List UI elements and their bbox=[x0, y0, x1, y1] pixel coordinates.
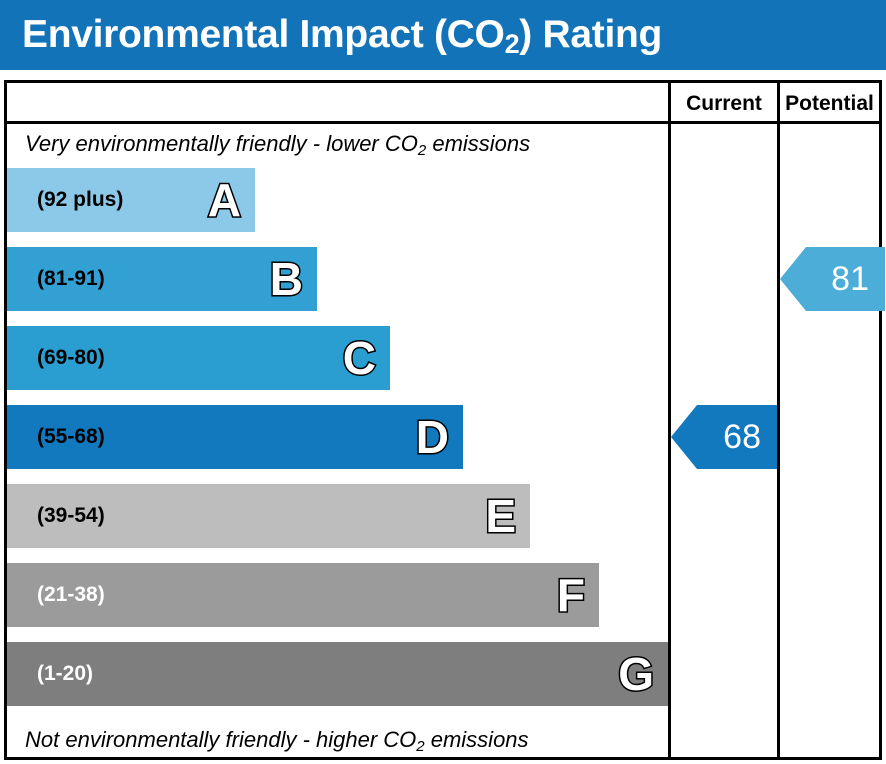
current-rating-marker: 68 bbox=[671, 405, 777, 469]
band-g-letter: G bbox=[618, 651, 654, 697]
band-e-letter: E bbox=[485, 493, 516, 539]
band-d-letter: D bbox=[416, 414, 449, 460]
rating-bands: Very environmentally friendly - lower CO… bbox=[7, 124, 668, 760]
caption-bottom: Not environmentally friendly - higher CO… bbox=[25, 722, 655, 758]
band-b: (81-91) B bbox=[7, 247, 317, 311]
title-main: Environmental Impact (CO bbox=[22, 13, 505, 56]
band-f: (21-38) F bbox=[7, 563, 599, 627]
band-a-range: (92 plus) bbox=[37, 188, 123, 212]
band-d-range: (55-68) bbox=[37, 425, 105, 449]
page-title: Environmental Impact (CO2) Rating bbox=[22, 13, 662, 57]
column-header-potential: Potential bbox=[780, 83, 879, 124]
caption-bottom-prefix: Not environmentally friendly - higher CO bbox=[25, 727, 416, 752]
band-b-range: (81-91) bbox=[37, 267, 105, 291]
potential-rating-marker: 81 bbox=[780, 247, 885, 311]
band-c-letter: C bbox=[343, 335, 376, 381]
band-e-range: (39-54) bbox=[37, 504, 105, 528]
band-f-range: (21-38) bbox=[37, 583, 105, 607]
body-divider-2 bbox=[777, 124, 780, 760]
current-rating-value: 68 bbox=[723, 418, 777, 457]
band-g-range: (1-20) bbox=[37, 662, 93, 686]
potential-rating-value: 81 bbox=[831, 260, 885, 299]
band-a-letter: A bbox=[208, 177, 241, 223]
chart-frame: Current Potential Very environmentally f… bbox=[4, 80, 882, 760]
band-f-letter: F bbox=[557, 572, 585, 618]
caption-bottom-subscript: 2 bbox=[416, 738, 424, 755]
column-header-current: Current bbox=[671, 83, 777, 124]
epc-environmental-impact-chart: Environmental Impact (CO2) Rating Curren… bbox=[0, 0, 886, 764]
band-b-letter: B bbox=[270, 256, 303, 302]
caption-top-prefix: Very environmentally friendly - lower CO bbox=[25, 131, 418, 156]
band-g: (1-20) G bbox=[7, 642, 668, 706]
band-c-range: (69-80) bbox=[37, 346, 105, 370]
caption-top-subscript: 2 bbox=[418, 142, 426, 159]
band-a: (92 plus) A bbox=[7, 168, 255, 232]
caption-top-suffix: emissions bbox=[426, 131, 530, 156]
caption-top: Very environmentally friendly - lower CO… bbox=[25, 126, 655, 162]
title-tail: ) Rating bbox=[519, 13, 662, 56]
band-d: (55-68) D bbox=[7, 405, 463, 469]
caption-bottom-suffix: emissions bbox=[425, 727, 529, 752]
band-c: (69-80) C bbox=[7, 326, 390, 390]
chart-title-bar: Environmental Impact (CO2) Rating bbox=[0, 0, 886, 70]
body-divider-1 bbox=[668, 124, 671, 760]
band-e: (39-54) E bbox=[7, 484, 530, 548]
title-subscript: 2 bbox=[505, 29, 520, 59]
